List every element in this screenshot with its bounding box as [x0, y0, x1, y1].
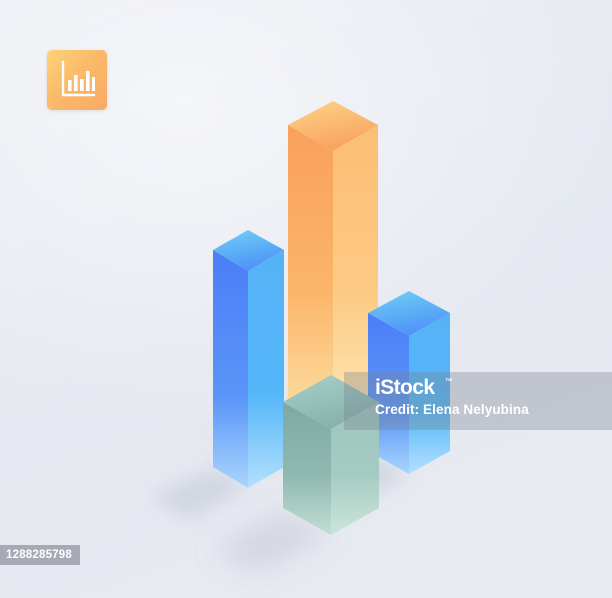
bar-blue-right-right-face [409, 313, 450, 474]
illustration-canvas: iStock ™ Credit: Elena Nelyubina 1288285… [0, 0, 612, 598]
bar-chart-icon [47, 50, 107, 110]
bar-blue-left-right-face [248, 250, 284, 488]
asset-id-label: 1288285798 [0, 545, 80, 565]
bar-blue-right [368, 291, 450, 474]
bar-blue-left [213, 230, 284, 488]
bar-teal-front [283, 375, 379, 535]
bar-chart-app-icon[interactable] [47, 50, 107, 110]
bar-blue-left-left-face [213, 250, 248, 488]
